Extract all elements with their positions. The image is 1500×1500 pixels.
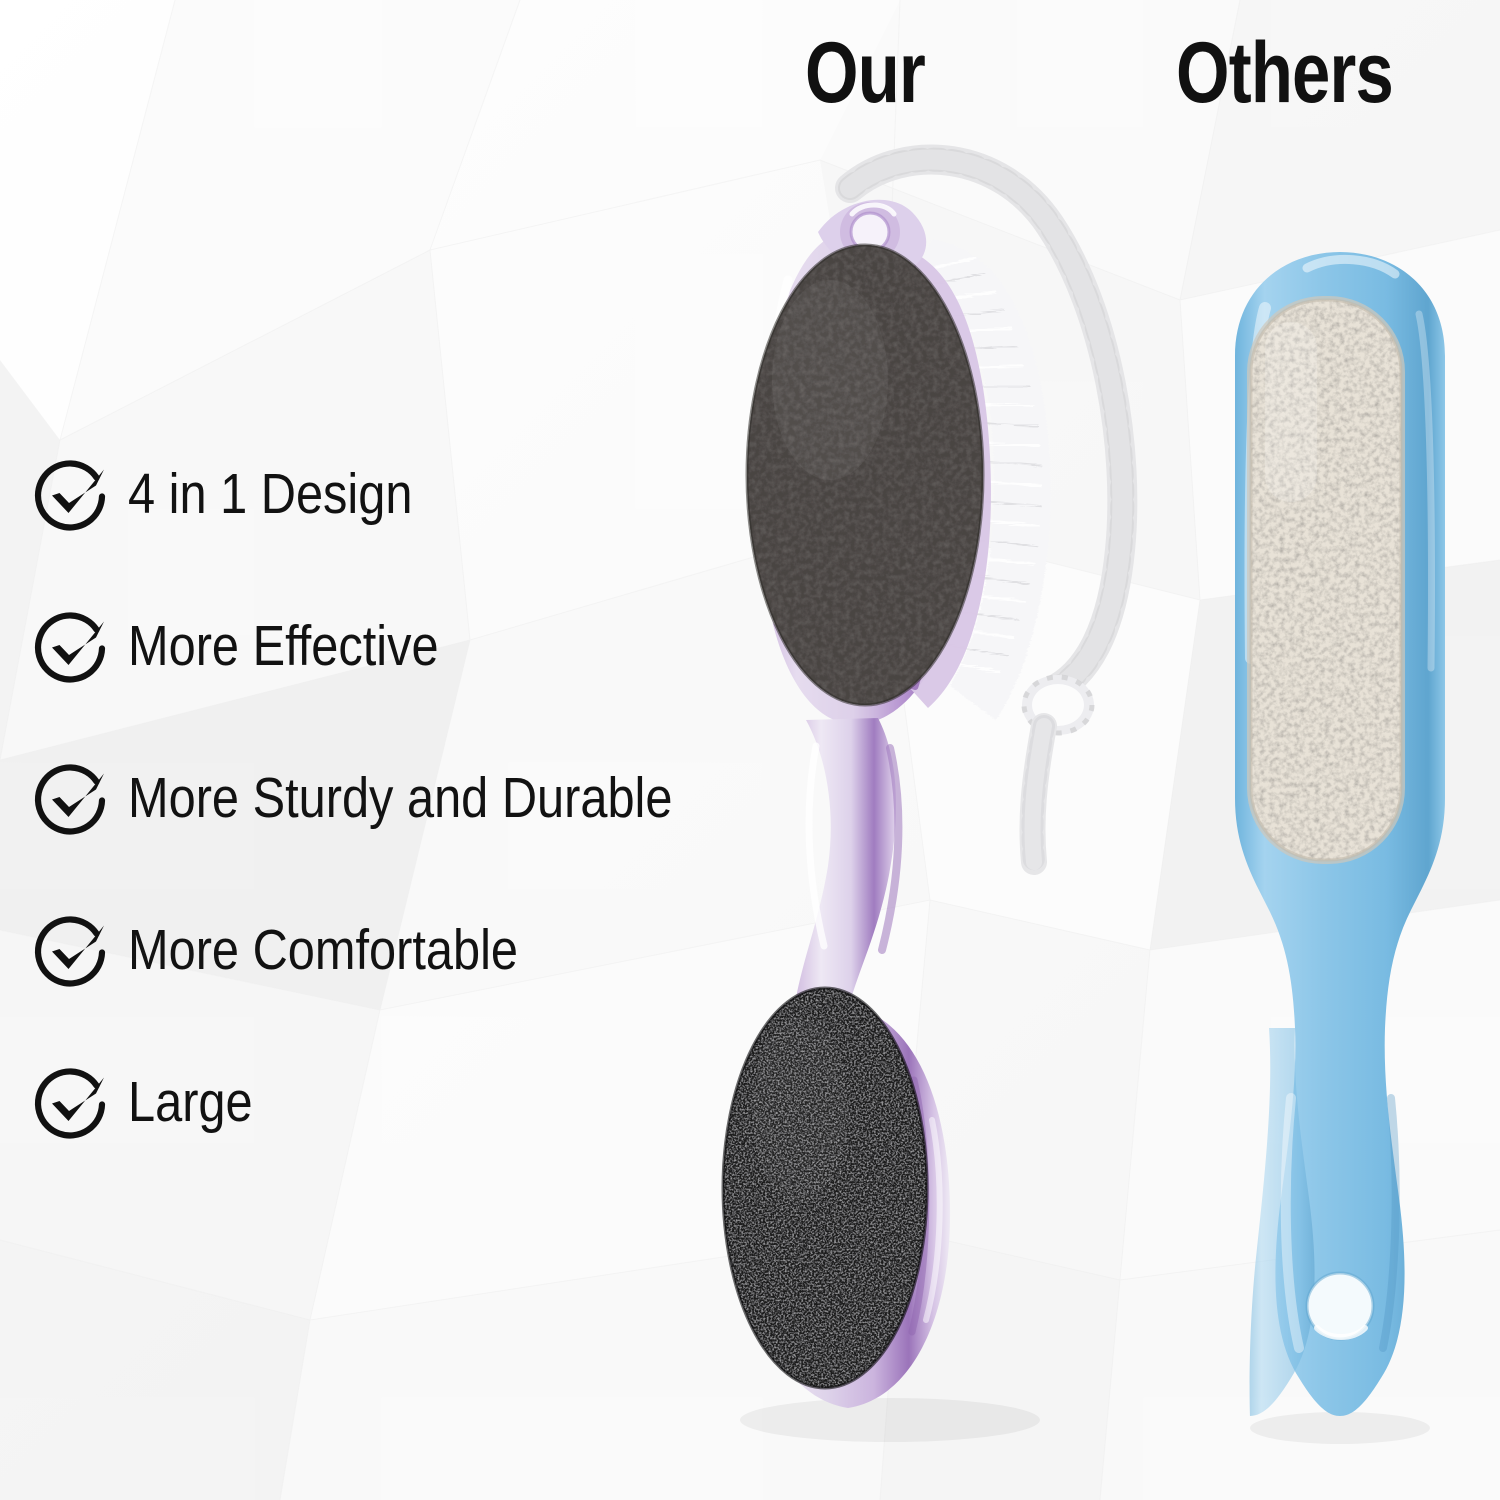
feature-list: 4 in 1 Design More Effective More Sturdy… xyxy=(34,452,765,1144)
list-item: More Effective xyxy=(34,604,765,688)
list-item: More Sturdy and Durable xyxy=(34,756,765,840)
check-circle-icon xyxy=(34,455,112,533)
product-image-ours xyxy=(700,120,1170,1450)
check-circle-icon xyxy=(34,911,112,989)
list-item: Large xyxy=(34,1060,765,1144)
list-item-label: More Comfortable xyxy=(128,922,518,979)
list-item-label: More Sturdy and Durable xyxy=(128,770,672,827)
check-circle-icon xyxy=(34,759,112,837)
product-image-theirs xyxy=(1195,238,1485,1450)
list-item-label: Large xyxy=(128,1074,253,1131)
check-circle-icon xyxy=(34,607,112,685)
list-item-label: More Effective xyxy=(128,618,439,675)
list-item: More Comfortable xyxy=(34,908,765,992)
list-item: 4 in 1 Design xyxy=(34,452,765,536)
page-title-ours: Our xyxy=(805,30,925,116)
check-circle-icon xyxy=(34,1063,112,1141)
page-title-others: Others xyxy=(1176,30,1393,116)
hang-hole xyxy=(1307,1273,1373,1339)
list-item-label: 4 in 1 Design xyxy=(128,466,412,523)
theirs-pumice-pad xyxy=(1245,293,1410,868)
